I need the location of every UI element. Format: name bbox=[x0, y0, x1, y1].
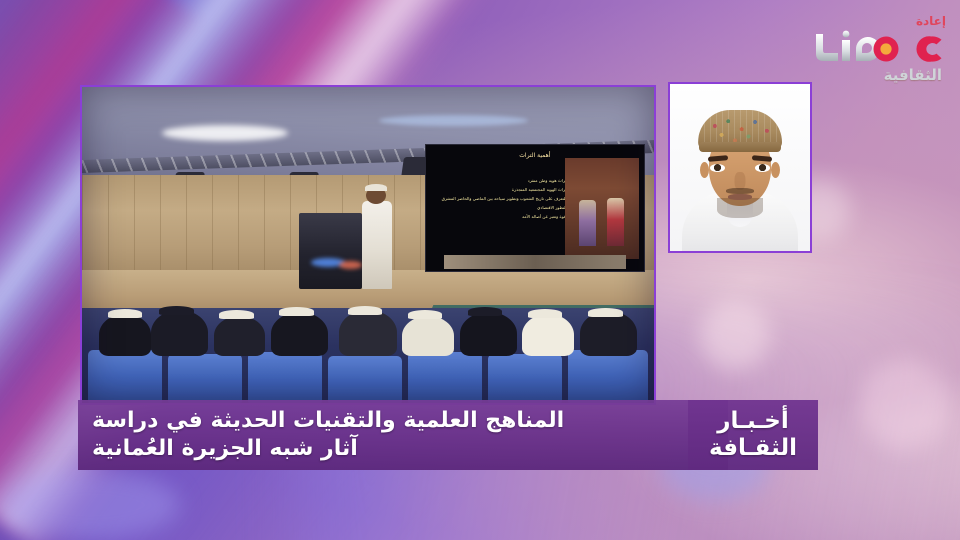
badge-line-1: أخـبـار bbox=[717, 409, 788, 434]
portrait-eye bbox=[710, 164, 725, 172]
background-bokeh bbox=[700, 300, 770, 370]
portrait-ear bbox=[771, 162, 780, 178]
portrait-eye bbox=[755, 164, 770, 172]
news-category-badge: أخـبـار الثقـافة bbox=[688, 400, 818, 470]
kummah-cap-band bbox=[699, 142, 781, 152]
channel-logo-mark bbox=[812, 28, 948, 66]
portrait-mouth bbox=[728, 194, 752, 200]
headline-banner: المناهج العلمية والتقنيات الحديثة في درا… bbox=[78, 400, 728, 470]
rerun-badge: إعادة bbox=[916, 14, 946, 28]
badge-line-2: الثقـافة bbox=[709, 436, 797, 461]
portrait-ear bbox=[700, 162, 709, 178]
broadcast-screen: أهمية التراث يمثل التراث هوية وطن متفرد … bbox=[0, 0, 960, 540]
main-video-player[interactable]: أهمية التراث يمثل التراث هوية وطن متفرد … bbox=[80, 85, 656, 405]
channel-name: الثقافية bbox=[884, 66, 942, 84]
headline-line-2: آثار شبه الجزيرة العُمانية bbox=[92, 436, 358, 462]
portrait-beard bbox=[717, 198, 763, 218]
headline-line-1: المناهج العلمية والتقنيات الحديثة في درا… bbox=[92, 408, 564, 434]
guest-portrait[interactable] bbox=[668, 82, 812, 253]
background-bokeh bbox=[860, 360, 950, 450]
channel-logo: إعادة الثقافية bbox=[812, 14, 948, 84]
background-bokeh bbox=[0, 470, 180, 540]
video-vignette bbox=[82, 87, 654, 403]
video-scene: أهمية التراث يمثل التراث هوية وطن متفرد … bbox=[82, 87, 654, 403]
